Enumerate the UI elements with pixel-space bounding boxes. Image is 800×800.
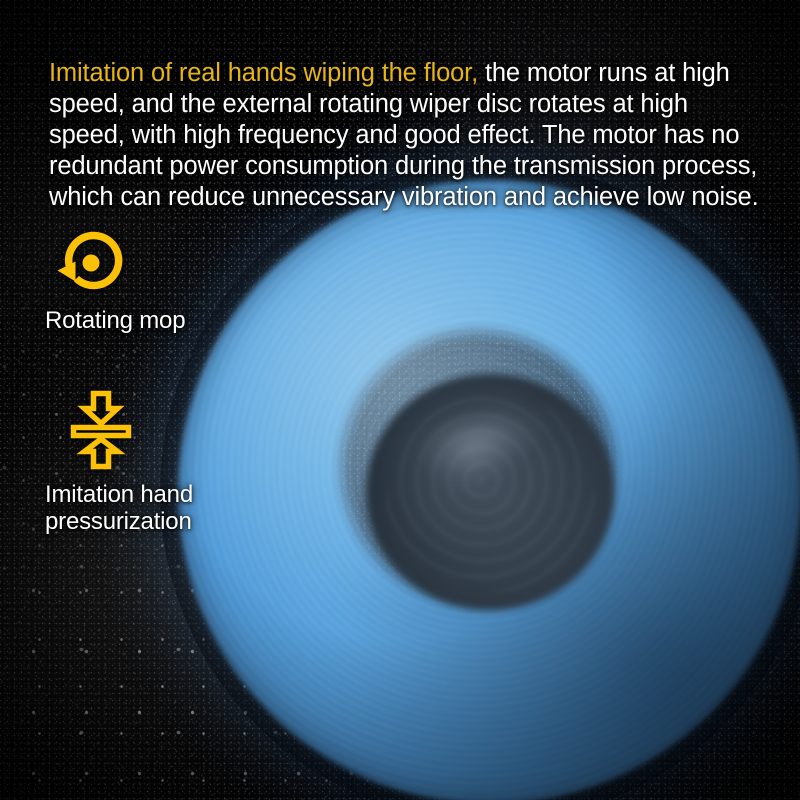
- rotation-arrow-icon: [55, 228, 139, 298]
- product-feature-image: Imitation of real hands wiping the floor…: [0, 0, 800, 800]
- callout-imitation-hand-pressurization: Imitation hand pressurization: [45, 390, 193, 535]
- compression-arrows-icon: [70, 390, 144, 472]
- feature-description-lead: Imitation of real hands wiping the floor…: [49, 59, 478, 87]
- callout-imitation-hand-pressurization-label: Imitation hand pressurization: [45, 481, 193, 535]
- callout-rotating-mop-label: Rotating mop: [45, 307, 185, 334]
- callout-rotating-mop: Rotating mop: [45, 228, 185, 334]
- feature-description: Imitation of real hands wiping the floor…: [49, 58, 761, 213]
